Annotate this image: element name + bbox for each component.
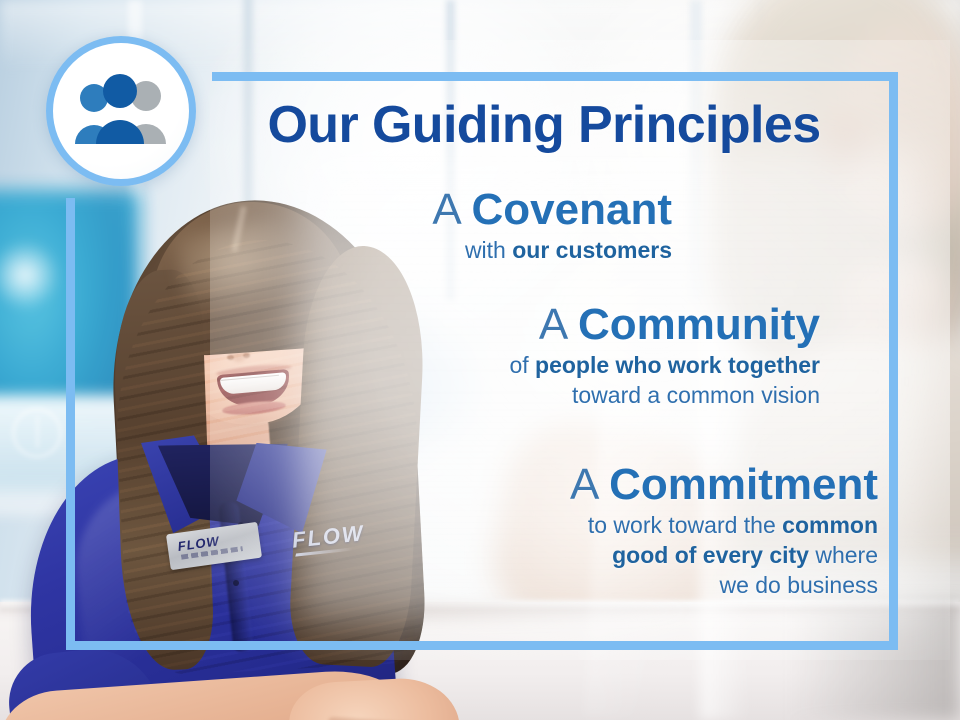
detail-normal-before: with [465, 237, 512, 263]
detail-normal-after: where [809, 542, 878, 568]
principle-headline: A Covenant [300, 185, 672, 235]
principle-headline: A Commitment [300, 460, 878, 510]
principle-keyword: Covenant [472, 185, 672, 234]
principle-keyword: Commitment [609, 460, 878, 509]
principle-lead: A [570, 460, 597, 509]
desk-right-shading [790, 602, 960, 720]
principle-commitment: A Commitment to work toward the common g… [300, 460, 878, 600]
principle-covenant: A Covenant with our customers [300, 185, 672, 265]
principle-community: A Community of people who work together … [300, 300, 820, 410]
principle-headline: A Community [300, 300, 820, 350]
detail-bold: common [782, 512, 878, 538]
shirt-button-2 [233, 580, 239, 586]
detail-bold: our customers [512, 237, 672, 263]
detail-normal-before: of [509, 352, 535, 378]
detail-normal-before: toward a common vision [572, 382, 820, 408]
detail-normal-before: we do business [719, 572, 878, 598]
detail-bold: good of every city [612, 542, 809, 568]
principle-detail-line: with our customers [300, 235, 672, 265]
guiding-principles-graphic: FLOW FLOW [0, 0, 960, 720]
detail-bold: people who work together [535, 352, 820, 378]
principle-lead: A [432, 185, 459, 234]
principle-detail-line: of people who work together [300, 350, 820, 380]
principle-detail-line: good of every city where [300, 540, 878, 570]
detail-normal-before: to work toward the [588, 512, 782, 538]
people-group-icon [69, 74, 173, 148]
principle-lead: A [539, 300, 566, 349]
principle-keyword: Community [578, 300, 820, 349]
page-title: Our Guiding Principles [214, 96, 874, 154]
principle-detail-line: toward a common vision [300, 380, 820, 410]
principle-detail-line: to work toward the common [300, 510, 878, 540]
people-group-icon-badge [46, 36, 196, 186]
principle-detail-line: we do business [300, 570, 878, 600]
